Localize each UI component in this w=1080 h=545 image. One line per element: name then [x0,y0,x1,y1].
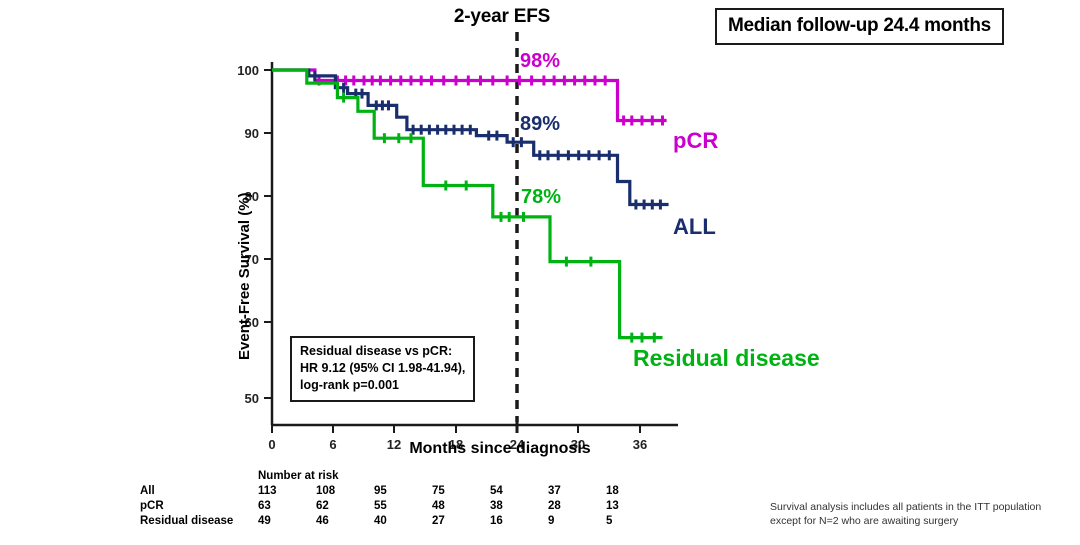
pcr-landmark-percent: 98% [520,50,560,73]
risk-row-value: 37 [548,485,606,500]
residual-landmark-percent: 78% [521,186,561,209]
curve-residual-disease [272,70,663,343]
risk-row-value: 40 [374,515,432,530]
all-landmark-percent: 89% [520,113,560,136]
risk-table-header-row: Number at risk [140,470,664,485]
footnote: Survival analysis includes all patients … [770,500,1070,528]
risk-row: All1131089575543718 [140,485,664,500]
y-tick-90: 90 [245,126,259,141]
risk-row-value: 5 [606,515,664,530]
risk-row-value: 63 [258,500,316,515]
risk-row-value: 9 [548,515,606,530]
risk-row-value: 54 [490,485,548,500]
stats-line-2: HR 9.12 (95% CI 1.98-41.94), [300,360,465,377]
risk-row-value: 28 [548,500,606,515]
x-tick-0: 0 [268,437,275,452]
risk-row-value: 46 [316,515,374,530]
number-at-risk-table: Number at risk All1131089575543718pCR636… [140,470,740,530]
legend-label-pcr: pCR [673,128,718,154]
risk-table-title: Number at risk [258,470,664,485]
risk-header-spacer [140,470,258,485]
y-axis-title: Event-Free Survival (%) [236,192,253,360]
risk-row-value: 95 [374,485,432,500]
risk-row-value: 27 [432,515,490,530]
x-axis-title: Months since diagnosis [330,440,670,458]
risk-row-value: 55 [374,500,432,515]
survival-curves [272,70,669,343]
stats-line-3: log-rank p=0.001 [300,377,465,394]
risk-row-label: Residual disease [140,515,258,530]
risk-table-body: All1131089575543718pCR63625548382813Resi… [140,485,664,530]
stats-line-1: Residual disease vs pCR: [300,343,465,360]
risk-row-value: 16 [490,515,548,530]
risk-row-value: 48 [432,500,490,515]
curve-all [272,70,669,210]
risk-row-value: 108 [316,485,374,500]
risk-row: Residual disease494640271695 [140,515,664,530]
risk-row-value: 62 [316,500,374,515]
y-tick-100: 100 [237,63,259,78]
y-tick-50: 50 [245,391,259,406]
risk-row-label: All [140,485,258,500]
risk-row-value: 18 [606,485,664,500]
risk-table: Number at risk All1131089575543718pCR636… [140,470,664,530]
risk-row-value: 113 [258,485,316,500]
risk-row-label: pCR [140,500,258,515]
legend-label-all: ALL [673,214,716,240]
risk-row-value: 75 [432,485,490,500]
statistics-box: Residual disease vs pCR: HR 9.12 (95% CI… [290,336,475,402]
legend-label-residual: Residual disease [633,345,820,372]
curve-pcr [272,70,667,126]
risk-row-value: 38 [490,500,548,515]
curve-path [272,70,663,338]
risk-row: pCR63625548382813 [140,500,664,515]
risk-row-value: 13 [606,500,664,515]
risk-row-value: 49 [258,515,316,530]
